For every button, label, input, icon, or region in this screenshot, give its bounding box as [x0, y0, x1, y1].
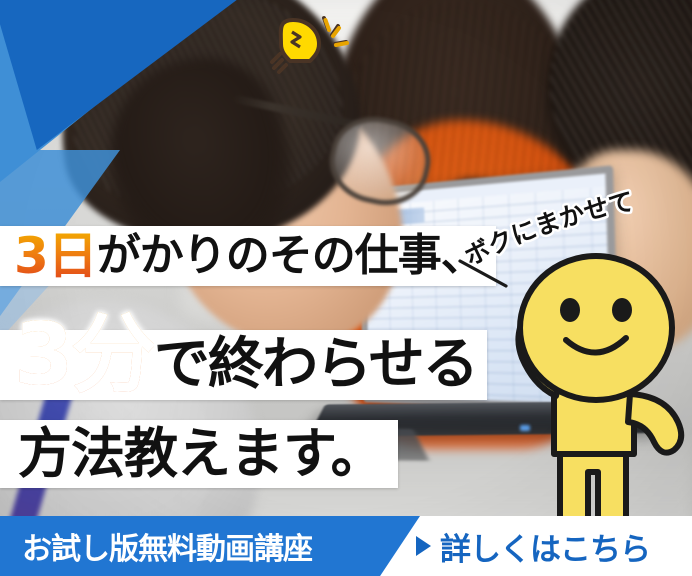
bottom-cta-bar: お試し版無料動画講座 詳しくはこちら [0, 516, 692, 576]
details-cta-label: 詳しくはこちら [440, 524, 650, 569]
headline-line1-highlight: 3日 [14, 231, 97, 281]
details-cta-link[interactable]: 詳しくはこちら [416, 516, 650, 576]
headline-line3-text: 方法教えます。 [18, 427, 384, 481]
headline-line2-rest: で終わらせる [154, 337, 477, 393]
headline-line1-rest: がかりのその仕事、 [97, 234, 484, 278]
headline-line2-highlight: 3分 [14, 305, 154, 405]
headline-band-1: 3日 がかりのその仕事、 [0, 226, 496, 286]
lightbulb-icon [262, 8, 358, 78]
play-arrow-icon [416, 536, 431, 556]
ad-banner: 3日 がかりのその仕事、 3分 で終わらせる 方法教えます。 ボクにまかせて [0, 0, 692, 576]
headline-band-2: 3分 で終わらせる [0, 330, 487, 400]
headline-band-3: 方法教えます。 [0, 420, 398, 488]
trial-course-badge-label: お試し版無料動画講座 [22, 524, 312, 568]
trial-course-badge[interactable]: お試し版無料動画講座 [0, 516, 420, 576]
mascot-character [498, 236, 692, 536]
headline-line2-highlight-wrap: 3分 [14, 328, 154, 402]
